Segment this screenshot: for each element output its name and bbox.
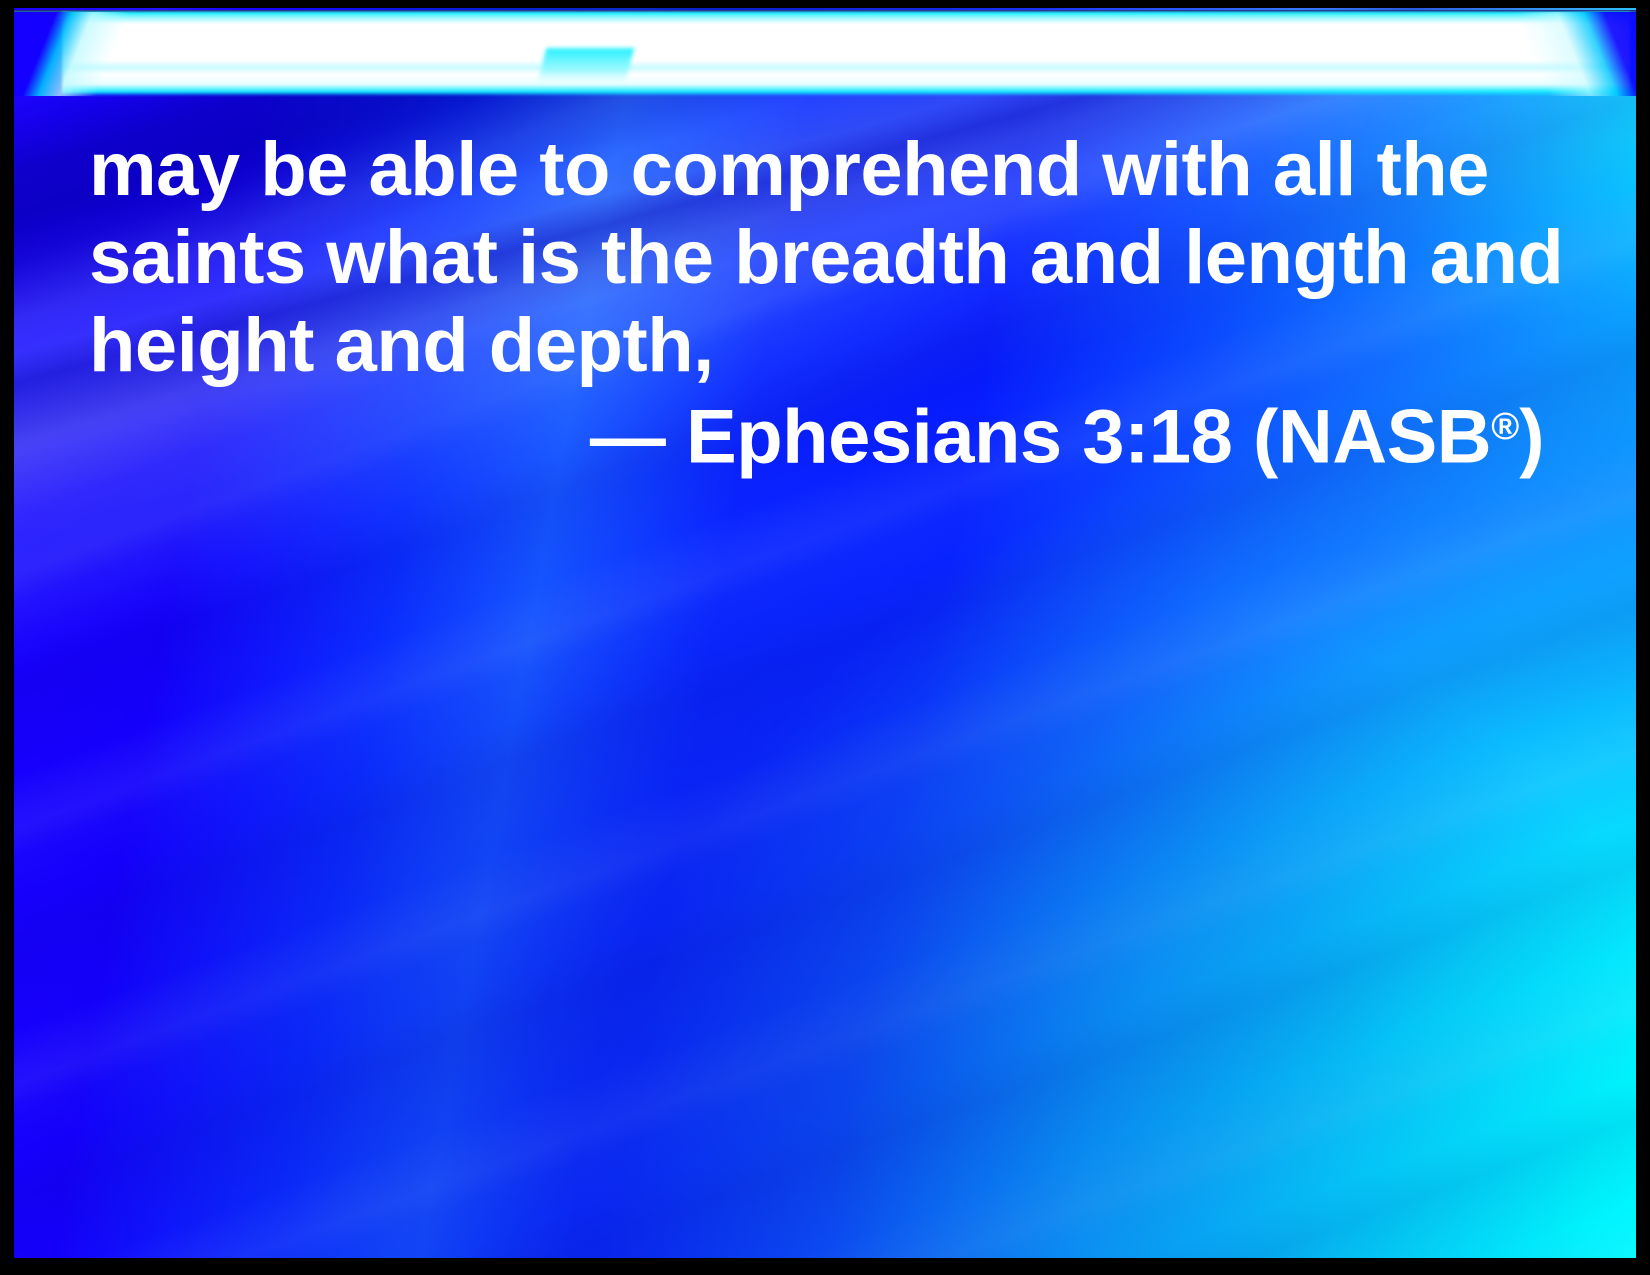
verse-line-2: saints what is the breadth and length an…	[89, 214, 1569, 302]
citation-prefix: — Ephesians 3:18 (NASB	[590, 395, 1491, 480]
light-bar-glow	[62, 12, 1630, 96]
light-bar-cyan-notch	[538, 48, 634, 82]
scripture-slide: may be able to comprehend with all the s…	[0, 0, 1650, 1275]
verse-text-block: may be able to comprehend with all the s…	[89, 126, 1569, 390]
verse-line-1: may be able to comprehend with all the	[89, 126, 1569, 214]
light-bar-left-bevel	[14, 12, 244, 96]
citation-suffix: )	[1519, 395, 1544, 480]
scripture-citation: — Ephesians 3:18 (NASB®)	[89, 383, 1544, 482]
verse-line-3: height and depth,	[89, 302, 1569, 390]
top-light-bar	[14, 8, 1636, 100]
slide-artwork-canvas: may be able to comprehend with all the s…	[14, 8, 1636, 1258]
light-bar-right-bevel	[1406, 12, 1636, 96]
registered-trademark-icon: ®	[1491, 406, 1519, 448]
